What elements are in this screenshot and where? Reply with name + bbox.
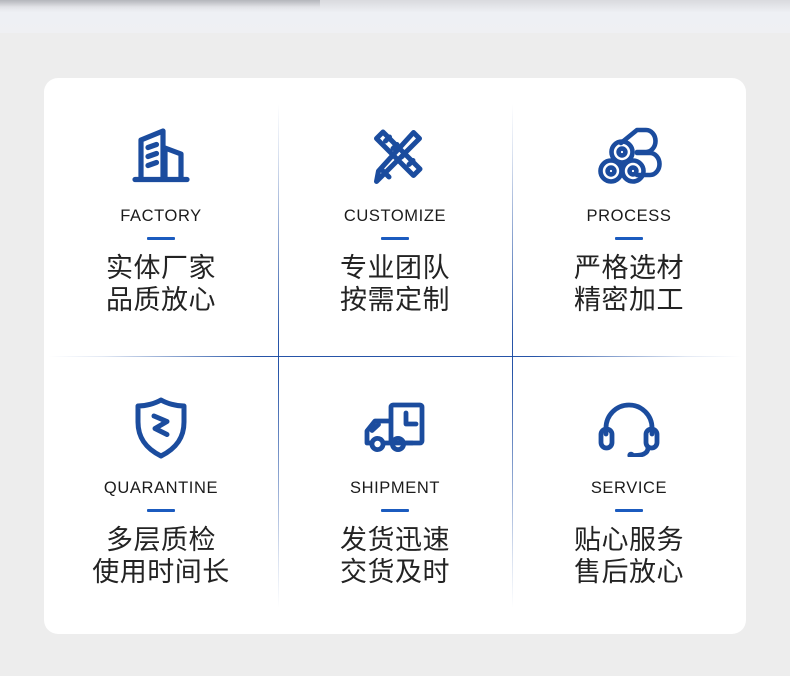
accent-bar (147, 237, 175, 240)
accent-bar (381, 509, 409, 512)
feature-en-label: QUARANTINE (104, 480, 218, 497)
feature-cn-label: 发货迅速 交货及时 (340, 525, 450, 590)
feature-en-label: SHIPMENT (350, 480, 440, 497)
headset-service-icon (591, 392, 667, 464)
page-root: FACTORY 实体厂家 品质放心 (0, 0, 790, 676)
accent-bar (615, 237, 643, 240)
feature-cn-label: 实体厂家 品质放心 (106, 253, 216, 318)
top-gradient-band (0, 0, 790, 33)
feature-cell-customize[interactable]: CUSTOMIZE 专业团队 按需定制 (278, 78, 512, 356)
shield-quarantine-icon (123, 392, 199, 464)
feature-cell-quarantine[interactable]: QUARANTINE 多层质检 使用时间长 (44, 356, 278, 634)
accent-bar (615, 509, 643, 512)
delivery-truck-clock-icon (357, 392, 433, 464)
feature-cn-label: 多层质检 使用时间长 (92, 525, 230, 590)
feature-en-label: CUSTOMIZE (344, 208, 446, 225)
top-band-shadow (0, 0, 320, 10)
accent-bar (147, 509, 175, 512)
stacked-pipes-process-icon (591, 120, 667, 192)
feature-cn-label: 贴心服务 售后放心 (574, 525, 684, 590)
feature-cn-label: 专业团队 按需定制 (340, 253, 450, 318)
feature-en-label: FACTORY (120, 208, 202, 225)
feature-cn-label: 严格选材 精密加工 (574, 253, 684, 318)
feature-cell-shipment[interactable]: SHIPMENT 发货迅速 交货及时 (278, 356, 512, 634)
feature-cell-service[interactable]: SERVICE 贴心服务 售后放心 (512, 356, 746, 634)
feature-cell-factory[interactable]: FACTORY 实体厂家 品质放心 (44, 78, 278, 356)
pencil-ruler-customize-icon (357, 120, 433, 192)
feature-en-label: SERVICE (591, 480, 667, 497)
accent-bar (381, 237, 409, 240)
grid-divider-horizontal (48, 356, 742, 357)
feature-en-label: PROCESS (587, 208, 672, 225)
factory-building-icon (123, 120, 199, 192)
feature-cell-process[interactable]: PROCESS 严格选材 精密加工 (512, 78, 746, 356)
features-card: FACTORY 实体厂家 品质放心 (44, 78, 746, 634)
